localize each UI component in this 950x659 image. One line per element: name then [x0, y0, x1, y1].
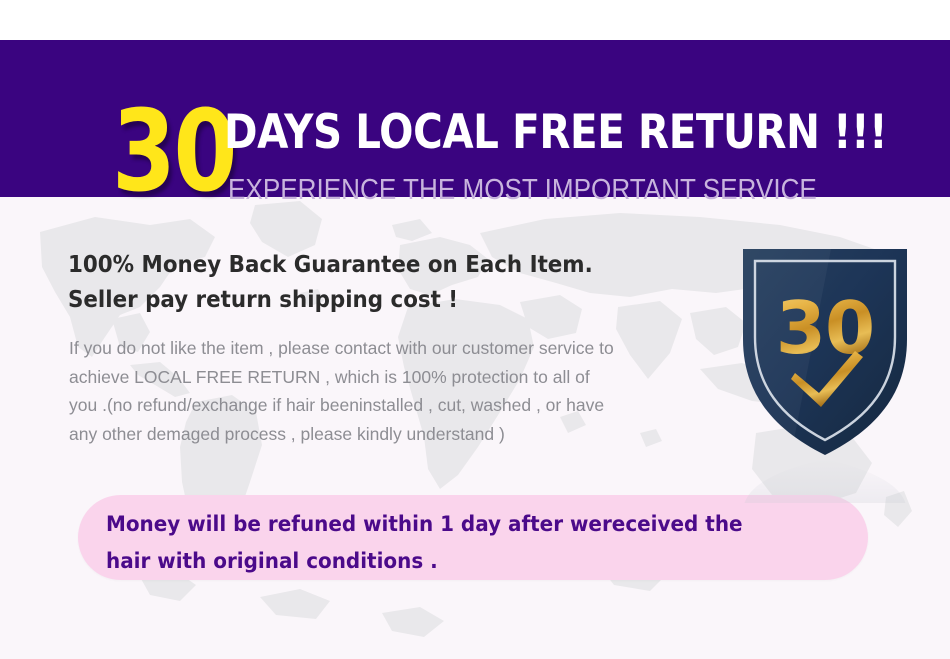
policy-paragraph: If you do not like the item , please con…: [69, 334, 729, 448]
policy-line-4: any other demaged process , please kindl…: [69, 420, 729, 449]
callout-line-1: Money will be refuned within 1 day after…: [106, 506, 819, 543]
refund-callout-box: Money will be refuned within 1 day after…: [78, 495, 868, 580]
header-subheadline: EXPERIENCE THE MOST IMPORTANT SERVICE: [228, 176, 817, 205]
header-band: 30 DAYS LOCAL FREE RETURN !!! EXPERIENCE…: [0, 40, 950, 197]
lead-heading: 100% Money Back Guarantee on Each Item. …: [68, 248, 593, 318]
top-white-strip: [0, 0, 950, 40]
policy-line-1: If you do not like the item , please con…: [69, 334, 729, 363]
lead-line-1: 100% Money Back Guarantee on Each Item.: [68, 248, 593, 283]
lead-line-2: Seller pay return shipping cost !: [68, 283, 593, 318]
callout-line-2: hair with original conditions .: [106, 543, 819, 580]
guarantee-shield-badge: 30: [735, 243, 915, 503]
header-number-30: 30: [112, 96, 235, 208]
shield-icon: 30: [735, 243, 915, 503]
header-headline: DAYS LOCAL FREE RETURN !!!: [224, 109, 887, 156]
refund-callout-text: Money will be refuned within 1 day after…: [106, 506, 819, 580]
return-policy-banner: 30 DAYS LOCAL FREE RETURN !!! EXPERIENCE…: [0, 0, 950, 659]
policy-line-3: you .(no refund/exchange if hair beenins…: [69, 391, 729, 420]
policy-line-2: achieve LOCAL FREE RETURN , which is 100…: [69, 363, 729, 392]
